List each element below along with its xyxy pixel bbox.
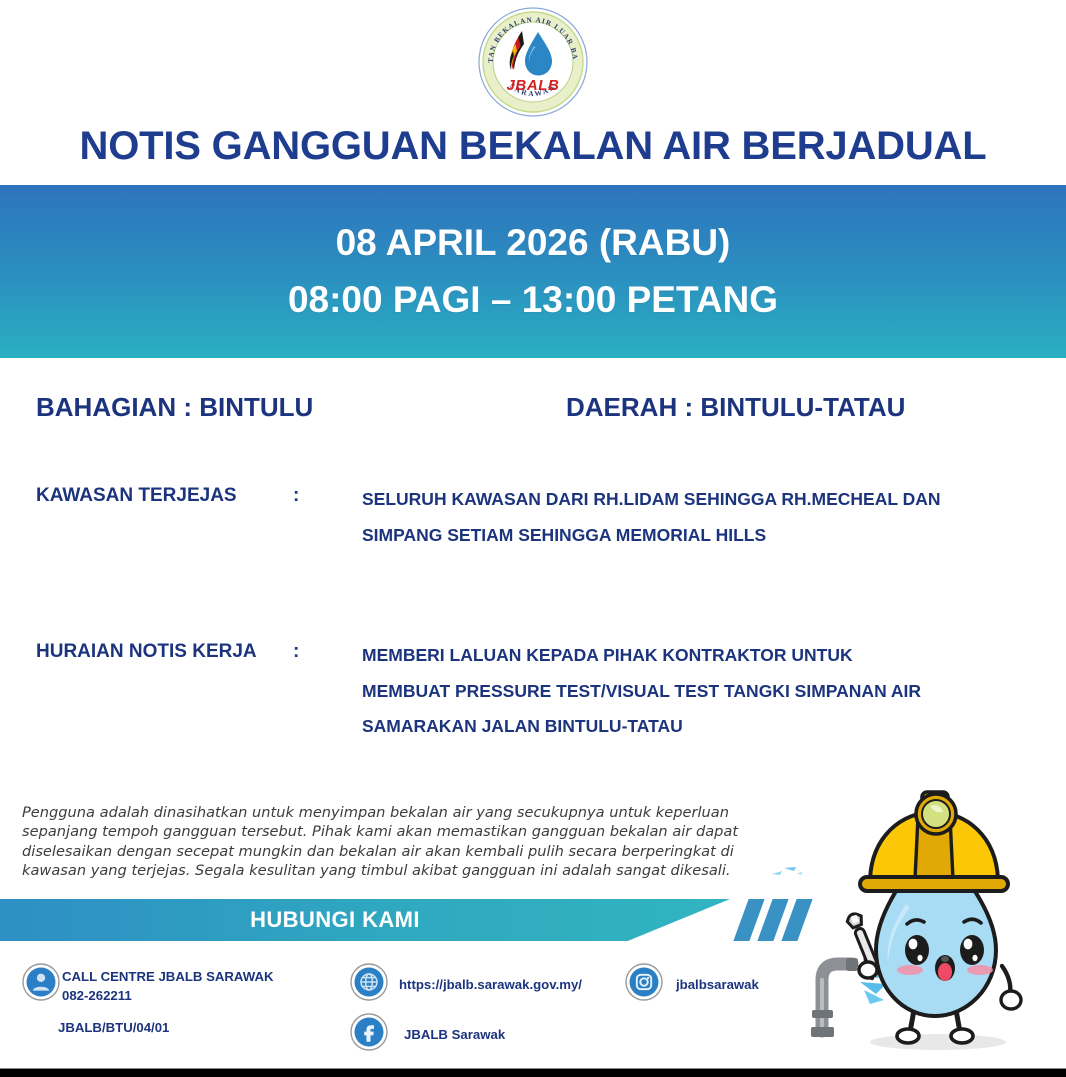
division-district-row: BAHAGIAN : BINTULU DAERAH : BINTULU-TATA…: [0, 392, 1066, 432]
affected-area-line-1: SELURUH KAWASAN DARI RH.LIDAM SEHINGGA R…: [362, 482, 1026, 518]
work-description-values: MEMBERI LALUAN KEPADA PIHAK KONTRAKTOR U…: [362, 638, 1026, 745]
reference-number: JBALB/BTU/04/01: [58, 1019, 169, 1038]
affected-area-label: KAWASAN TERJEJAS: [36, 485, 237, 507]
division-label: BAHAGIAN : BINTULU: [36, 392, 313, 423]
water-supply-interruption-notice: JABATAN BEKALAN AIR LUAR BANDAR SARAWAK …: [0, 0, 1066, 1077]
page-title: NOTIS GANGGUAN BEKALAN AIR BERJADUAL: [0, 124, 1066, 169]
facebook-handle[interactable]: JBALB Sarawak: [404, 1026, 505, 1045]
person-icon: [22, 963, 60, 1001]
disclaimer-text: Pengguna adalah dinasihatkan untuk menyi…: [22, 803, 762, 880]
affected-area-line-2: SIMPANG SETIAM SEHINGGA MEMORIAL HILLS: [362, 518, 1026, 554]
notice-time: 08:00 PAGI – 13:00 PETANG: [288, 272, 778, 328]
work-description-line-3: SAMARAKAN JALAN BINTULU-TATAU: [362, 709, 1026, 745]
call-centre-info: CALL CENTRE JBALB SARAWAK 082-262211: [62, 968, 274, 1005]
work-description-label: HURAIAN NOTIS KERJA: [36, 641, 257, 663]
work-description-colon: :: [293, 641, 299, 663]
contact-banner-title: HUBUNGI KAMI: [0, 899, 730, 941]
logo-wordmark: JBALB: [506, 77, 559, 94]
instagram-icon[interactable]: [625, 963, 663, 1001]
call-centre-name: CALL CENTRE JBALB SARAWAK: [62, 968, 274, 987]
work-description-line-1: MEMBERI LALUAN KEPADA PIHAK KONTRAKTOR U…: [362, 638, 1026, 674]
hard-hat-icon: [860, 792, 1008, 891]
globe-icon[interactable]: [350, 963, 388, 1001]
call-centre-phone: 082-262211: [62, 987, 274, 1006]
work-description-line-2: MEMBUAT PRESSURE TEST/VISUAL TEST TANGKI…: [362, 674, 1026, 710]
bottom-bar: [0, 1068, 1066, 1077]
logo-container: JABATAN BEKALAN AIR LUAR BANDAR SARAWAK …: [0, 6, 1066, 118]
website-url[interactable]: https://jbalb.sarawak.gov.my/: [399, 976, 582, 995]
instagram-handle[interactable]: jbalbsarawak: [676, 976, 759, 995]
district-label: DAERAH : BINTULU-TATAU: [566, 392, 905, 423]
water-droplet-mascot: [806, 784, 1058, 1064]
notice-date: 08 APRIL 2026 (RABU): [336, 215, 731, 271]
facebook-icon[interactable]: [350, 1013, 388, 1051]
jbalb-logo: JABATAN BEKALAN AIR LUAR BANDAR SARAWAK …: [477, 6, 589, 118]
affected-area-values: SELURUH KAWASAN DARI RH.LIDAM SEHINGGA R…: [362, 482, 1026, 553]
date-time-banner: 08 APRIL 2026 (RABU) 08:00 PAGI – 13:00 …: [0, 185, 1066, 358]
affected-area-colon: :: [293, 485, 299, 507]
water-splash-icon: [770, 862, 804, 878]
mascot-right-arm: [1001, 966, 1021, 1009]
